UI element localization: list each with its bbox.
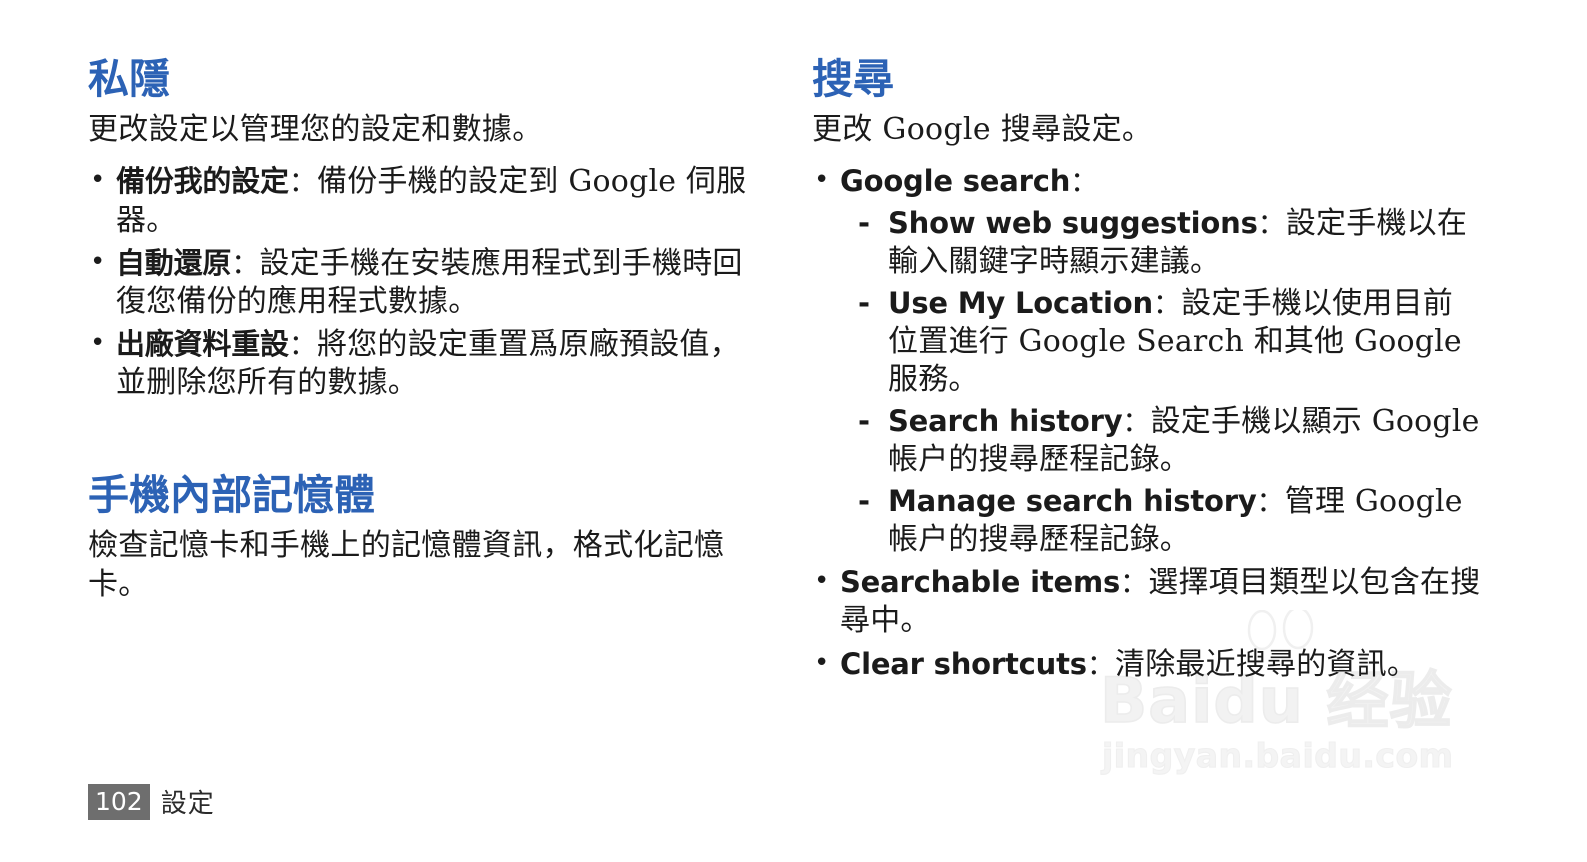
list-item: • 備份我的設定：備份手機的設定到 Google 伺服器。 bbox=[88, 163, 758, 239]
page-number-badge: 102 bbox=[88, 784, 150, 820]
list-item-term: Searchable items bbox=[840, 565, 1120, 599]
google-search-sub-list: - Show web suggestions：設定手機以在輸入關鍵字時顯示建議。… bbox=[852, 205, 1482, 560]
list-item-colon: ： bbox=[1070, 165, 1098, 198]
bullet-marker-icon: • bbox=[814, 563, 830, 599]
list-item-term: Search history bbox=[888, 404, 1122, 438]
list-item: • 出廠資料重設：將您的設定重置爲原廠預設值，並删除您所有的數據。 bbox=[88, 326, 758, 402]
list-item-term: Google search bbox=[840, 164, 1070, 198]
list-item-colon: ： bbox=[1257, 485, 1285, 518]
list-item-colon: ： bbox=[1153, 287, 1181, 320]
list-item-colon: ： bbox=[289, 328, 317, 361]
bullet-marker-icon: • bbox=[814, 645, 830, 681]
list-item-colon: ： bbox=[231, 247, 259, 280]
list-item-term: Show web suggestions bbox=[888, 206, 1258, 240]
page-footer: 102 設定 bbox=[88, 783, 215, 820]
heading-search: 搜尋 bbox=[812, 58, 1482, 101]
list-item: - Use My Location：設定手機以使用目前位置進行 Google S… bbox=[852, 285, 1482, 399]
list-item: • 自動還原：設定手機在安裝應用程式到手機時回復您備份的應用程式數據。 bbox=[88, 245, 758, 321]
privacy-intro-paragraph: 更改設定以管理您的設定和數據。 bbox=[88, 110, 758, 149]
list-item: - Show web suggestions：設定手機以在輸入關鍵字時顯示建議。 bbox=[852, 205, 1482, 281]
dash-marker-icon: - bbox=[858, 205, 870, 241]
bullet-marker-icon: • bbox=[90, 325, 106, 361]
list-item-colon: ： bbox=[289, 165, 317, 198]
list-item-term: Clear shortcuts bbox=[840, 647, 1087, 681]
heading-phone-storage: 手機內部記憶體 bbox=[88, 474, 758, 517]
dash-marker-icon: - bbox=[858, 403, 870, 439]
dash-marker-icon: - bbox=[858, 285, 870, 321]
list-item-term: Manage search history bbox=[888, 484, 1257, 518]
list-item: • Clear shortcuts：清除最近搜尋的資訊。 bbox=[812, 646, 1482, 684]
bullet-marker-icon: • bbox=[90, 162, 106, 198]
heading-privacy: 私隱 bbox=[88, 58, 758, 101]
list-item-colon: ： bbox=[1122, 405, 1150, 438]
dash-marker-icon: - bbox=[858, 483, 870, 519]
right-column: 搜尋 更改 Google 搜尋設定。 • Google search： - Sh… bbox=[812, 58, 1482, 689]
list-item-colon: ： bbox=[1258, 207, 1286, 240]
bullet-marker-icon: • bbox=[814, 162, 830, 198]
list-item: • Searchable items：選擇項目類型以包含在搜尋中。 bbox=[812, 564, 1482, 640]
list-item-colon: ： bbox=[1120, 566, 1148, 599]
list-item-term: 自動還原 bbox=[116, 246, 231, 280]
list-item-description: 清除最近搜尋的資訊。 bbox=[1115, 647, 1417, 682]
list-item-colon: ： bbox=[1087, 648, 1115, 681]
watermark-url-text: jingyan.baidu.com bbox=[1102, 736, 1454, 775]
list-item: - Search history：設定手機以顯示 Google 帳户的搜尋歷程記… bbox=[852, 403, 1482, 479]
privacy-bullet-list: • 備份我的設定：備份手機的設定到 Google 伺服器。 • 自動還原：設定手… bbox=[88, 163, 758, 402]
footer-section-label: 設定 bbox=[161, 783, 215, 820]
storage-intro-paragraph: 檢查記憶卡和手機上的記憶體資訊，格式化記憶卡。 bbox=[88, 526, 758, 604]
list-item: - Manage search history：管理 Google 帳户的搜尋歷… bbox=[852, 483, 1482, 559]
list-item: • Google search： - Show web suggestions：… bbox=[812, 163, 1482, 559]
search-bullet-list: • Google search： - Show web suggestions：… bbox=[812, 163, 1482, 683]
left-column: 私隱 更改設定以管理您的設定和數據。 • 備份我的設定：備份手機的設定到 Goo… bbox=[88, 58, 758, 618]
list-item-term: 出廠資料重設 bbox=[116, 327, 289, 361]
search-intro-paragraph: 更改 Google 搜尋設定。 bbox=[812, 110, 1482, 149]
list-item-term: 備份我的設定 bbox=[116, 164, 289, 198]
manual-page: Baidu 经验 jingyan.baidu.com 私隱 更改設定以管理您的設… bbox=[0, 0, 1587, 862]
bullet-marker-icon: • bbox=[90, 244, 106, 280]
list-item-term: Use My Location bbox=[888, 286, 1153, 320]
